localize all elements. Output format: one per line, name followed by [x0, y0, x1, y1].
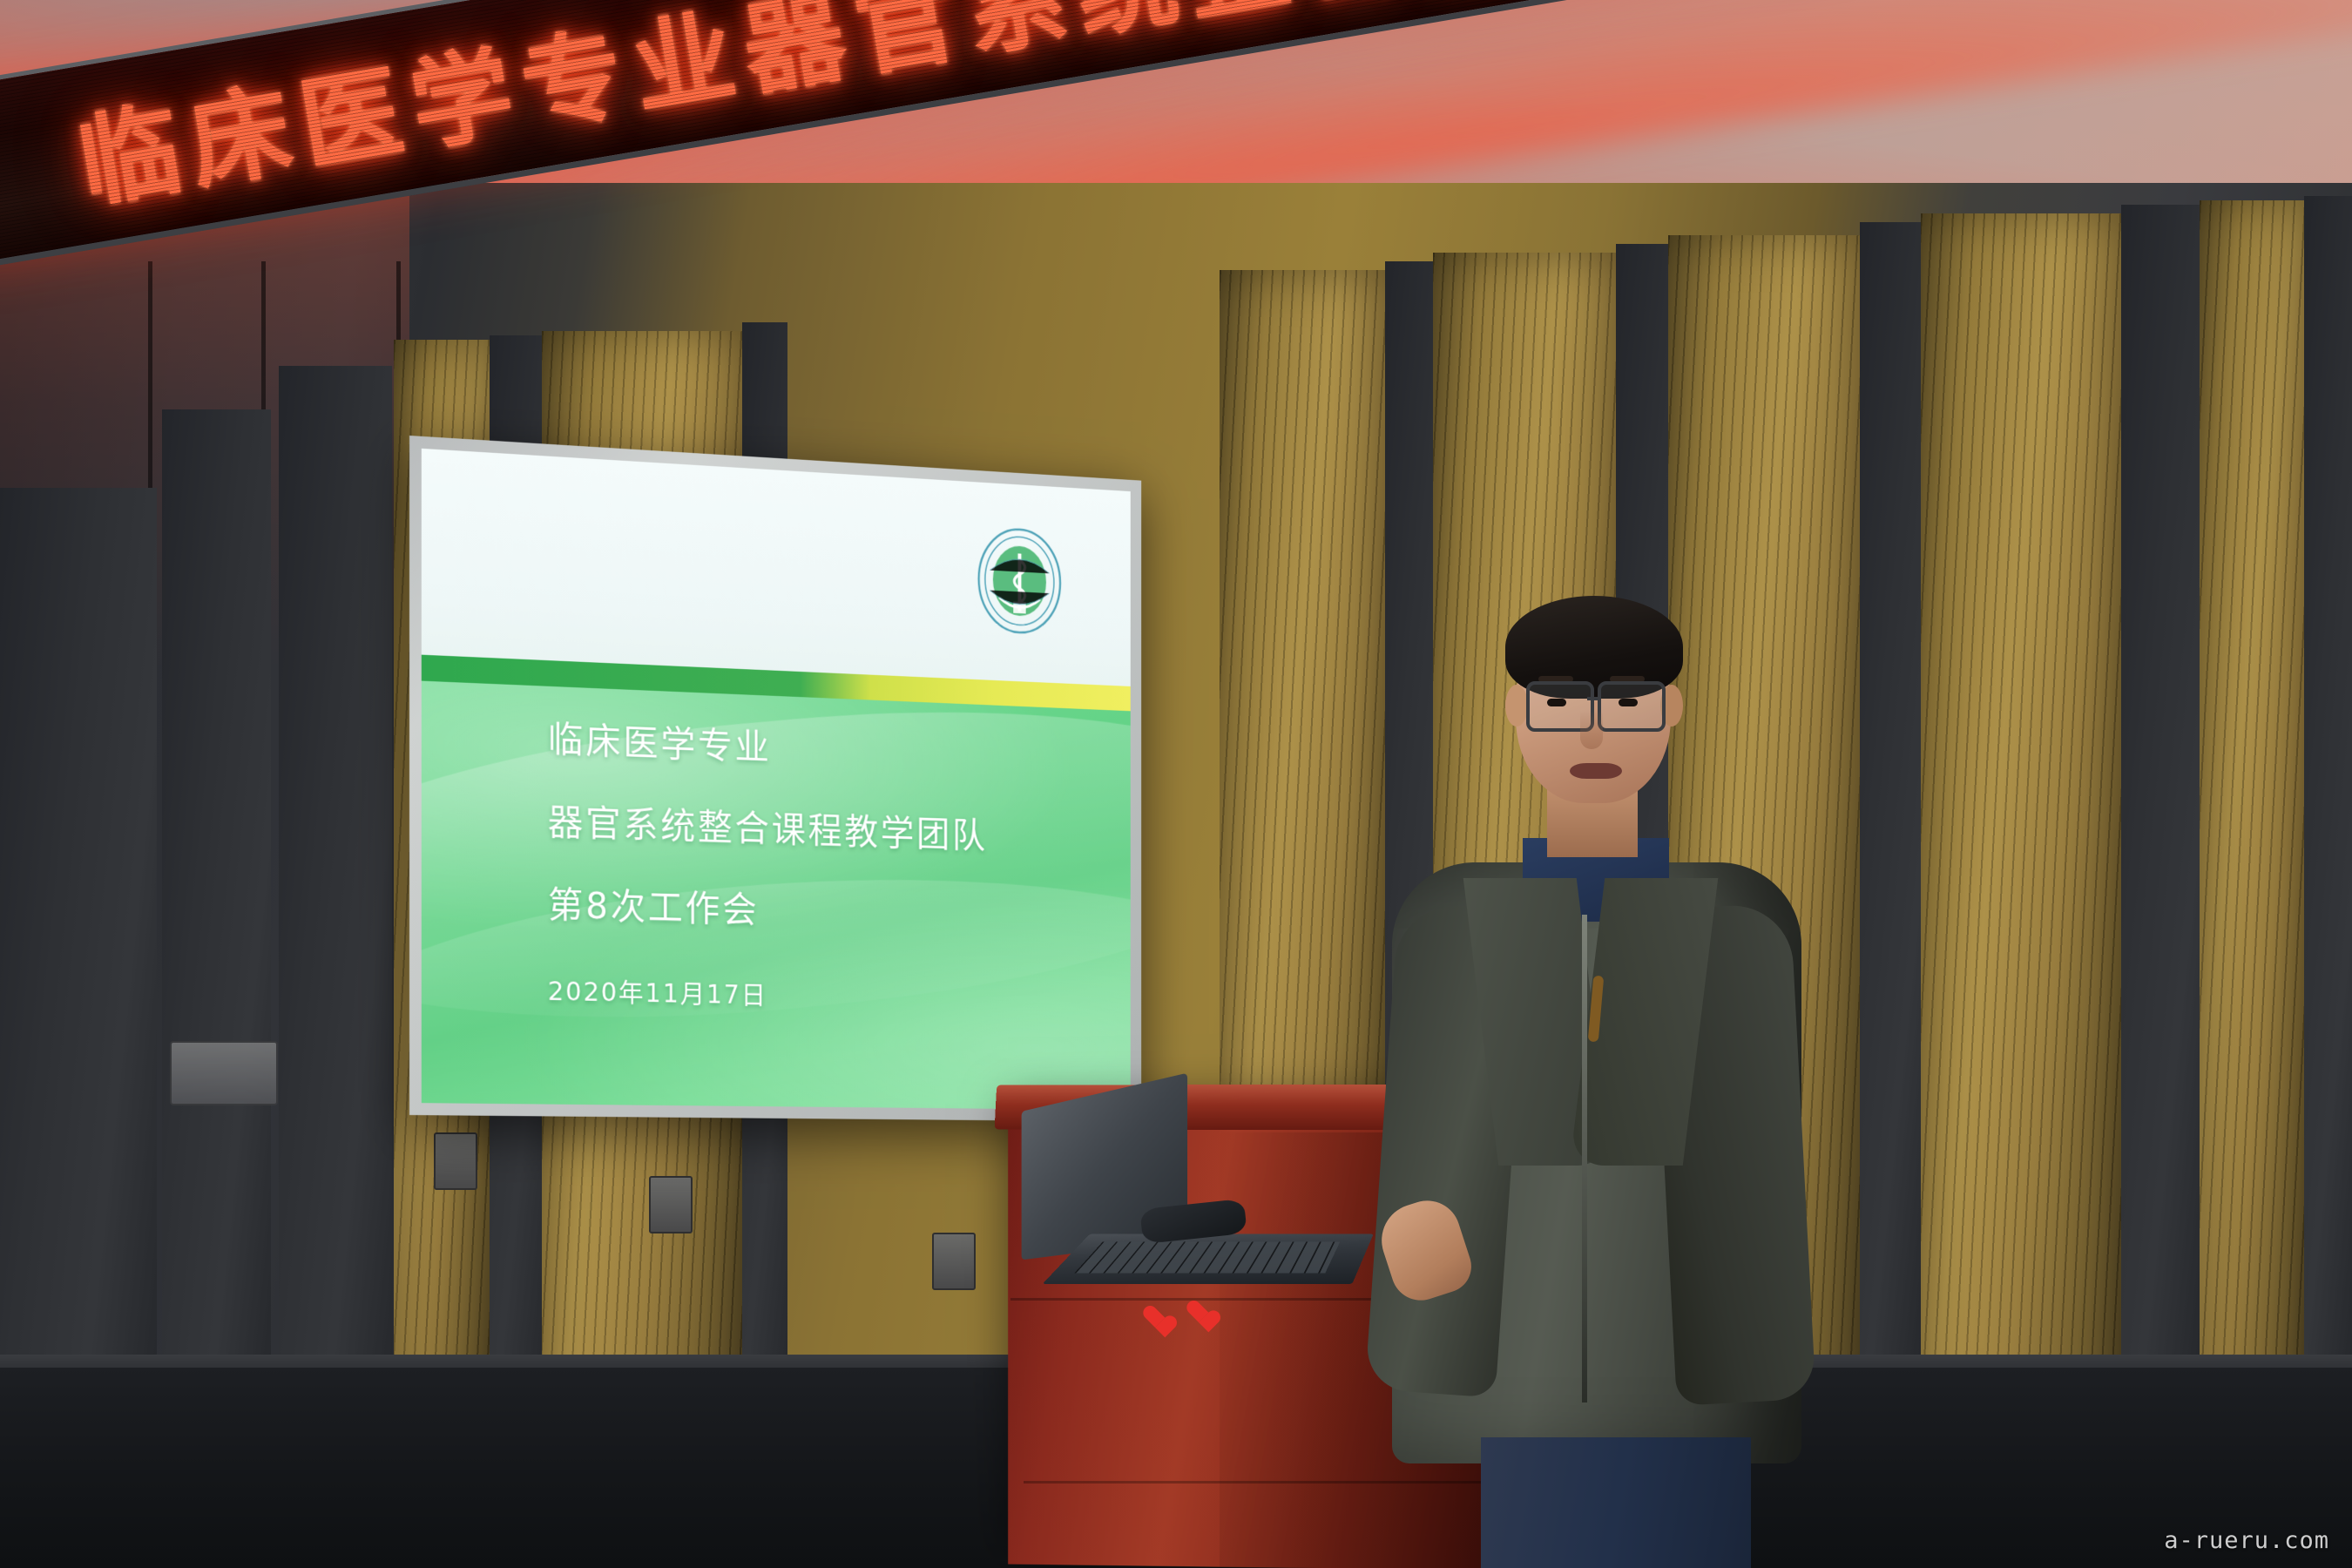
heart-decal-icon — [1186, 1301, 1213, 1326]
projection-screen: 临床医学专业 器官系统整合课程教学团队 第8次工作会 2020年11月17日 — [409, 436, 1141, 1122]
watermark: a-rueru.com — [2164, 1527, 2329, 1554]
wall-control-plate[interactable] — [170, 1041, 278, 1105]
slide-line-2: 器官系统整合课程教学团队 — [548, 805, 988, 855]
slide-text-block: 临床医学专业 器官系统整合课程教学团队 第8次工作会 2020年11月17日 — [548, 722, 988, 1016]
wall-outlet[interactable] — [932, 1233, 976, 1290]
wall-column-dark — [2304, 196, 2352, 1411]
ear-left — [1505, 685, 1528, 727]
laptop-keyboard[interactable] — [1074, 1241, 1340, 1273]
jacket-zipper — [1582, 915, 1587, 1402]
slide-line-3: 第8次工作会 — [548, 888, 988, 935]
heart-decal-icon — [1143, 1307, 1169, 1331]
trousers — [1481, 1437, 1751, 1568]
wall-bay-gold — [1921, 213, 2121, 1411]
wall-column-dark — [2121, 205, 2200, 1411]
photo-scene: 临床医学专业器官系统整合课程教学团队第8次工作会议 — [0, 0, 2352, 1568]
slide-date: 2020年11月17日 — [548, 970, 988, 1016]
speaker-person — [1376, 601, 1829, 1568]
mouth — [1570, 763, 1622, 779]
wall-outlet[interactable] — [649, 1176, 693, 1233]
glasses-bridge-icon — [1587, 697, 1599, 700]
nose — [1580, 711, 1603, 749]
wall-column-dark — [0, 488, 157, 1437]
eye-left — [1547, 699, 1566, 706]
glasses-lens-right-icon — [1598, 681, 1666, 732]
wall-column-dark — [1860, 222, 1921, 1411]
wall-outlet[interactable] — [434, 1132, 477, 1190]
wall-column-dark — [162, 409, 271, 1437]
projection-screen-surface: 临床医学专业 器官系统整合课程教学团队 第8次工作会 2020年11月17日 — [422, 449, 1131, 1110]
wall-bay-gold — [2200, 200, 2304, 1411]
eye-right — [1619, 699, 1638, 706]
university-emblem-icon — [973, 519, 1067, 642]
wall-column-dark — [279, 366, 392, 1437]
